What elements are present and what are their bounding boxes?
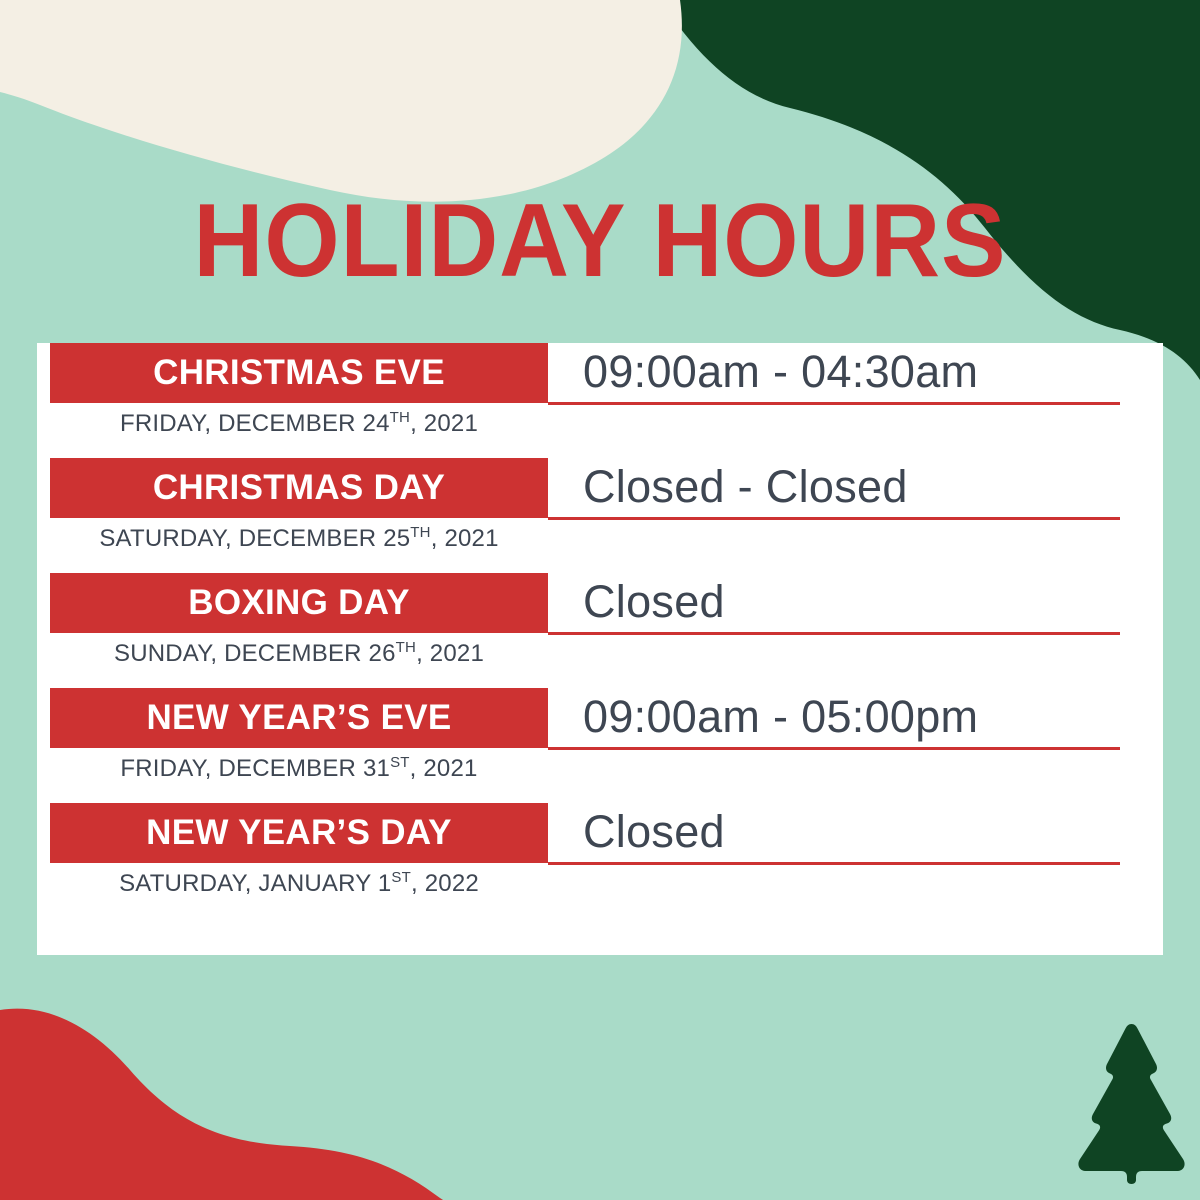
schedule-row: BOXING DAYSUNDAY, DECEMBER 26TH, 2021Clo… <box>37 573 1163 688</box>
holiday-name-label: CHRISTMAS DAY <box>153 470 445 506</box>
holiday-name-banner: CHRISTMAS EVE <box>50 343 548 403</box>
holiday-hours-value: 09:00am - 05:00pm <box>583 686 978 748</box>
holiday-hours-value: Closed <box>583 801 725 863</box>
christmas-tree-icon <box>1073 1021 1190 1184</box>
schedule-row-right: Closed <box>548 573 1120 635</box>
schedule-row-right: 09:00am - 04:30am <box>548 343 1120 405</box>
date-year: , 2021 <box>416 640 484 667</box>
date-ordinal-suffix: TH <box>396 639 416 656</box>
date-prefix: SATURDAY, JANUARY 1 <box>119 870 391 897</box>
row-underline <box>548 632 1120 635</box>
schedule-row-left: NEW YEAR’S DAYSATURDAY, JANUARY 1ST, 202… <box>50 803 548 897</box>
schedule-rows: CHRISTMAS EVEFRIDAY, DECEMBER 24TH, 2021… <box>37 343 1163 925</box>
schedule-row: CHRISTMAS EVEFRIDAY, DECEMBER 24TH, 2021… <box>37 343 1163 458</box>
holiday-name-banner: NEW YEAR’S DAY <box>50 803 548 863</box>
date-prefix: SUNDAY, DECEMBER 26 <box>114 640 396 667</box>
row-underline <box>548 517 1120 520</box>
row-underline <box>548 402 1120 405</box>
date-ordinal-suffix: ST <box>391 869 411 886</box>
holiday-name-banner: BOXING DAY <box>50 573 548 633</box>
date-prefix: FRIDAY, DECEMBER 24 <box>120 410 390 437</box>
date-year: , 2021 <box>431 525 499 552</box>
holiday-hours-value: 09:00am - 04:30am <box>583 341 978 403</box>
schedule-row-right: Closed - Closed <box>548 458 1120 520</box>
holiday-date-label: SATURDAY, DECEMBER 25TH, 2021 <box>50 526 548 552</box>
row-underline <box>548 862 1120 865</box>
date-ordinal-suffix: TH <box>390 409 410 426</box>
schedule-row-left: NEW YEAR’S EVEFRIDAY, DECEMBER 31ST, 202… <box>50 688 548 782</box>
schedule-card: CHRISTMAS EVEFRIDAY, DECEMBER 24TH, 2021… <box>37 343 1163 955</box>
schedule-row: CHRISTMAS DAYSATURDAY, DECEMBER 25TH, 20… <box>37 458 1163 573</box>
holiday-name-label: NEW YEAR’S DAY <box>146 815 452 851</box>
holiday-name-label: NEW YEAR’S EVE <box>146 700 451 736</box>
schedule-row-left: BOXING DAYSUNDAY, DECEMBER 26TH, 2021 <box>50 573 548 667</box>
date-ordinal-suffix: TH <box>410 524 430 541</box>
date-ordinal-suffix: ST <box>390 754 410 771</box>
date-year: , 2022 <box>411 870 479 897</box>
holiday-name-label: BOXING DAY <box>188 585 409 621</box>
holiday-hours-value: Closed <box>583 571 725 633</box>
page-title: HOLIDAY HOURS <box>42 186 1158 296</box>
holiday-date-label: FRIDAY, DECEMBER 31ST, 2021 <box>50 756 548 782</box>
schedule-row-right: 09:00am - 05:00pm <box>548 688 1120 750</box>
date-year: , 2021 <box>410 410 478 437</box>
row-underline <box>548 747 1120 750</box>
schedule-row-right: Closed <box>548 803 1120 865</box>
holiday-date-label: SATURDAY, JANUARY 1ST, 2022 <box>50 871 548 897</box>
date-prefix: FRIDAY, DECEMBER 31 <box>120 755 390 782</box>
schedule-row-left: CHRISTMAS EVEFRIDAY, DECEMBER 24TH, 2021 <box>50 343 548 437</box>
holiday-name-banner: NEW YEAR’S EVE <box>50 688 548 748</box>
schedule-row: NEW YEAR’S EVEFRIDAY, DECEMBER 31ST, 202… <box>37 688 1163 803</box>
holiday-name-banner: CHRISTMAS DAY <box>50 458 548 518</box>
date-prefix: SATURDAY, DECEMBER 25 <box>99 525 410 552</box>
schedule-row-left: CHRISTMAS DAYSATURDAY, DECEMBER 25TH, 20… <box>50 458 548 552</box>
date-year: , 2021 <box>410 755 478 782</box>
schedule-row: NEW YEAR’S DAYSATURDAY, JANUARY 1ST, 202… <box>37 803 1163 925</box>
holiday-hours-poster: HOLIDAY HOURS CHRISTMAS EVEFRIDAY, DECEM… <box>0 0 1200 1200</box>
holiday-date-label: SUNDAY, DECEMBER 26TH, 2021 <box>50 641 548 667</box>
holiday-name-label: CHRISTMAS EVE <box>153 355 445 391</box>
holiday-date-label: FRIDAY, DECEMBER 24TH, 2021 <box>50 411 548 437</box>
holiday-hours-value: Closed - Closed <box>583 456 908 518</box>
